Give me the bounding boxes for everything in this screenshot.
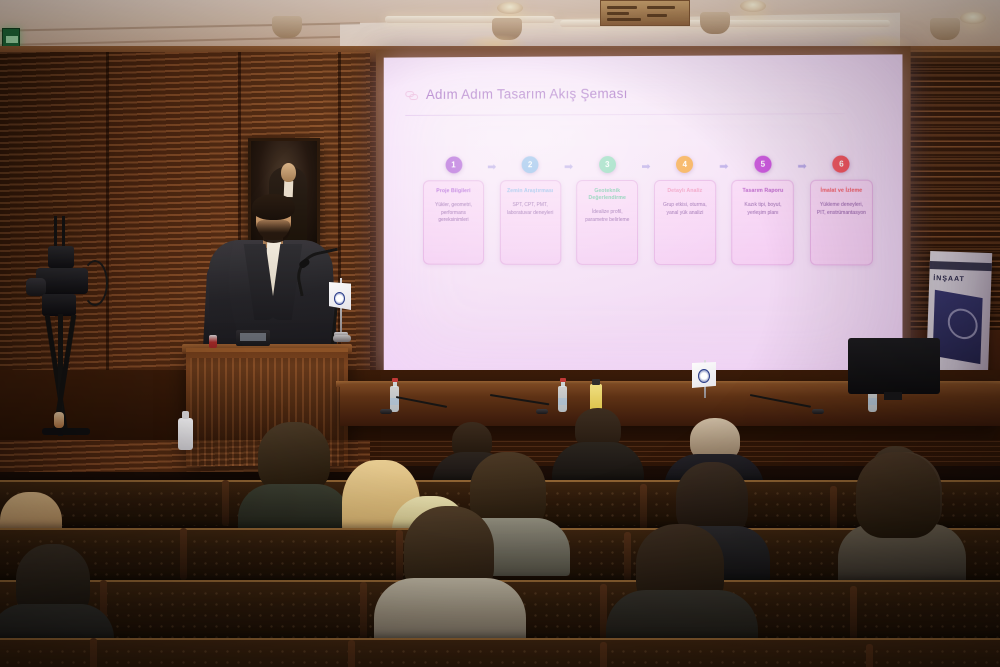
seat-divider <box>640 484 647 530</box>
ceiling-seam <box>0 22 360 32</box>
seat-divider <box>600 642 607 667</box>
seat-divider <box>360 582 367 640</box>
seat-divider <box>348 640 355 667</box>
ceiling-speaker <box>930 18 960 40</box>
flow-step-3: 3Geoteknik Değerlendirmeİdealize profil,… <box>576 156 638 265</box>
step-card-body: SPT, CPT, PMT, laboratuvar deneyleri <box>504 202 556 217</box>
step-number-badge: 1 <box>445 156 462 173</box>
seat-divider <box>850 586 857 644</box>
beverage-can <box>209 335 217 348</box>
ceiling-access-panel <box>600 0 690 26</box>
link-icon <box>405 88 418 101</box>
flow-diagram: 1Proje BilgileriYükler, geometri, perfor… <box>423 155 873 265</box>
auditorium-scene: İNŞAAT Adım Adım Tasarım Akış Şeması 1Pr… <box>0 0 1000 667</box>
ceiling-downlight <box>960 12 986 24</box>
step-number-badge: 4 <box>676 156 693 173</box>
slide-title: Adım Adım Tasarım Akış Şeması <box>426 86 628 102</box>
step-card-body: Kazık tipi, boyut, yerleşim planı <box>737 202 789 217</box>
step-card: Geoteknik Değerlendirmeİdealize profil, … <box>576 180 638 265</box>
banner-text: İNŞAAT <box>933 275 991 284</box>
presentation-slide: Adım Adım Tasarım Akış Şeması 1Proje Bil… <box>384 54 903 381</box>
podium-desk-flag <box>330 278 354 338</box>
step-number-badge: 2 <box>522 156 539 173</box>
flow-arrow-icon: ➡ <box>638 160 654 173</box>
step-card-body: Yükler, geometri, performans gereksiniml… <box>428 202 479 224</box>
step-card-title: Tasarım Raporu <box>737 188 789 195</box>
step-card: Proje BilgileriYükler, geometri, perform… <box>423 180 484 264</box>
seat-divider <box>830 486 837 532</box>
step-number-badge: 3 <box>599 156 616 173</box>
seat-row[interactable] <box>0 638 1000 667</box>
step-card-title: Geoteknik Değerlendirme <box>581 188 633 202</box>
step-card: İmalat ve İzlemeYükleme deneyleri, PIT, … <box>810 180 873 266</box>
camera-antenna <box>54 216 57 250</box>
slide-header: Adım Adım Tasarım Akış Şeması <box>405 86 627 102</box>
seat-divider <box>396 530 403 582</box>
step-card-title: Proje Bilgileri <box>428 188 479 195</box>
audience-area <box>0 400 1000 667</box>
camera-mount <box>42 294 76 316</box>
banner-emblem <box>933 290 983 364</box>
ceiling-speaker <box>272 16 302 38</box>
seat-divider <box>180 528 187 580</box>
step-number-badge: 6 <box>833 155 850 172</box>
stage-monitor <box>848 338 940 394</box>
audience-head <box>856 452 940 538</box>
step-card-body: Grup etkisi, oturma, yanal yük analizi <box>659 202 711 217</box>
step-card: Detaylı AnalizGrup etkisi, oturma, yanal… <box>654 180 716 265</box>
flow-arrow-icon: ➡ <box>484 160 499 173</box>
flow-step-2: 2Zemin AraştırmasıSPT, CPT, PMT, laborat… <box>499 156 560 265</box>
audience-torso <box>552 442 644 482</box>
camera-cable <box>82 260 108 306</box>
banner-stripe <box>930 261 992 271</box>
ceiling-downlight <box>740 0 766 12</box>
ceiling-light-strip <box>385 16 555 23</box>
ceiling-downlight <box>497 2 523 14</box>
podium-laptop <box>236 330 270 346</box>
step-card: Zemin AraştırmasıSPT, CPT, PMT, laboratu… <box>499 180 560 265</box>
seat-divider <box>624 532 631 584</box>
camera-top-module <box>48 246 74 268</box>
flow-arrow-icon: ➡ <box>716 160 732 173</box>
step-card-title: Zemin Araştırması <box>504 188 556 195</box>
flow-arrow-icon: ➡ <box>794 160 810 173</box>
flow-step-6: 6İmalat ve İzlemeYükleme deneyleri, PIT,… <box>810 155 873 265</box>
seat-divider <box>866 644 873 667</box>
step-card-body: İdealize profil, parametre belirleme <box>581 209 633 224</box>
slide-divider <box>405 113 844 116</box>
monitor-stand <box>884 392 902 400</box>
ceiling-speaker <box>700 12 730 34</box>
flow-arrow-icon: ➡ <box>561 160 576 173</box>
step-number-badge: 5 <box>754 156 771 173</box>
flow-step-4: 4Detaylı AnalizGrup etkisi, oturma, yana… <box>654 156 716 265</box>
step-card-title: İmalat ve İzleme <box>815 188 868 195</box>
flag-stand-base <box>333 335 351 342</box>
step-card: Tasarım RaporuKazık tipi, boyut, yerleşi… <box>732 180 795 266</box>
seat-divider <box>90 638 97 667</box>
step-card-title: Detaylı Analiz <box>659 188 711 195</box>
emblem-circle <box>947 306 978 341</box>
seat-divider <box>222 480 229 526</box>
flow-step-5: 5Tasarım RaporuKazık tipi, boyut, yerleş… <box>732 156 795 266</box>
camera-antenna <box>62 216 65 250</box>
table-flag <box>692 360 718 400</box>
step-card-body: Yükleme deneyleri, PIT, enstrümantasyon <box>815 202 868 217</box>
flow-step-1: 1Proje BilgileriYükler, geometri, perfor… <box>423 156 484 264</box>
